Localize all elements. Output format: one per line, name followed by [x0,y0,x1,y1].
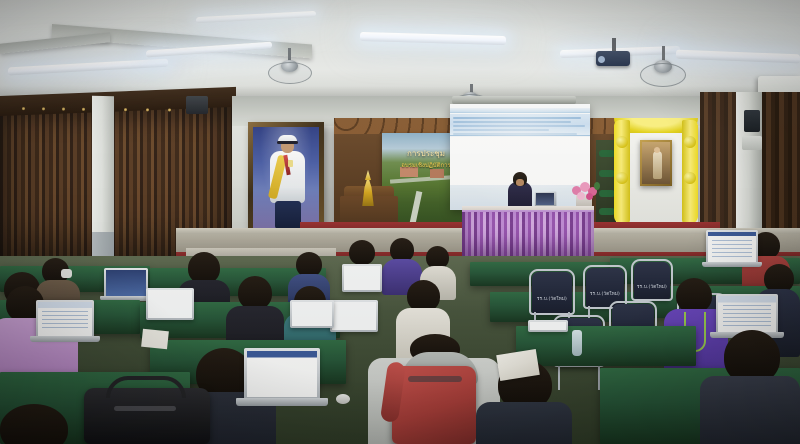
water-bottle [572,330,582,356]
laptop-computer [36,300,94,338]
flower-arrangement [570,180,600,200]
laptop-computer [104,268,148,298]
yellow-drape-right [682,120,698,224]
right-curtain-inner [700,92,738,242]
laptop-computer [146,288,194,320]
chair-label: รร.บ.(วัดใหม่) [532,295,572,302]
laptop-computer [244,348,320,400]
chair-label: รร.บ.(วัดใหม่) [586,290,624,297]
royal-portrait-display [640,140,672,186]
projected-titlebar [450,108,590,113]
wall-unit-icon [742,136,762,150]
ceiling-fan-blades [640,63,686,87]
stacking-chair[interactable]: รร.บ.(วัดใหม่) [532,272,572,314]
yellow-drape-left [614,120,630,224]
laptop-base [236,398,328,406]
laptop-computer [528,320,568,332]
head-table [462,212,594,258]
laptop-base [30,336,100,342]
laptop-computer [706,230,758,264]
red-backpack [392,366,476,444]
projected-ribbon-toolbar [450,114,590,136]
framed-royal-portrait [248,122,324,234]
attendee-black-right [700,330,800,444]
wall-speaker-icon [186,96,208,114]
portrait-canvas [253,127,319,229]
laptop-computer [342,264,382,292]
seminar-photograph: การประชุม อบรมเชิงปฏิบัติการ [0,0,800,444]
screen-housing [452,96,576,104]
computer-mouse [336,394,350,404]
projector-mount [612,38,616,52]
laptop-computer [290,300,334,328]
laptop-computer [330,300,378,332]
laptop-base [702,262,762,267]
wall-speaker-icon [744,110,760,132]
black-laptop-bag [84,388,210,444]
presenter-laptop-screen [536,193,554,205]
attendee-foreground-left [0,404,70,444]
paper-sheet [141,329,169,350]
projector-lens [598,56,605,63]
ceiling-fan-blades [268,62,312,84]
presenter-face [516,179,524,186]
laptop-computer [716,294,778,334]
